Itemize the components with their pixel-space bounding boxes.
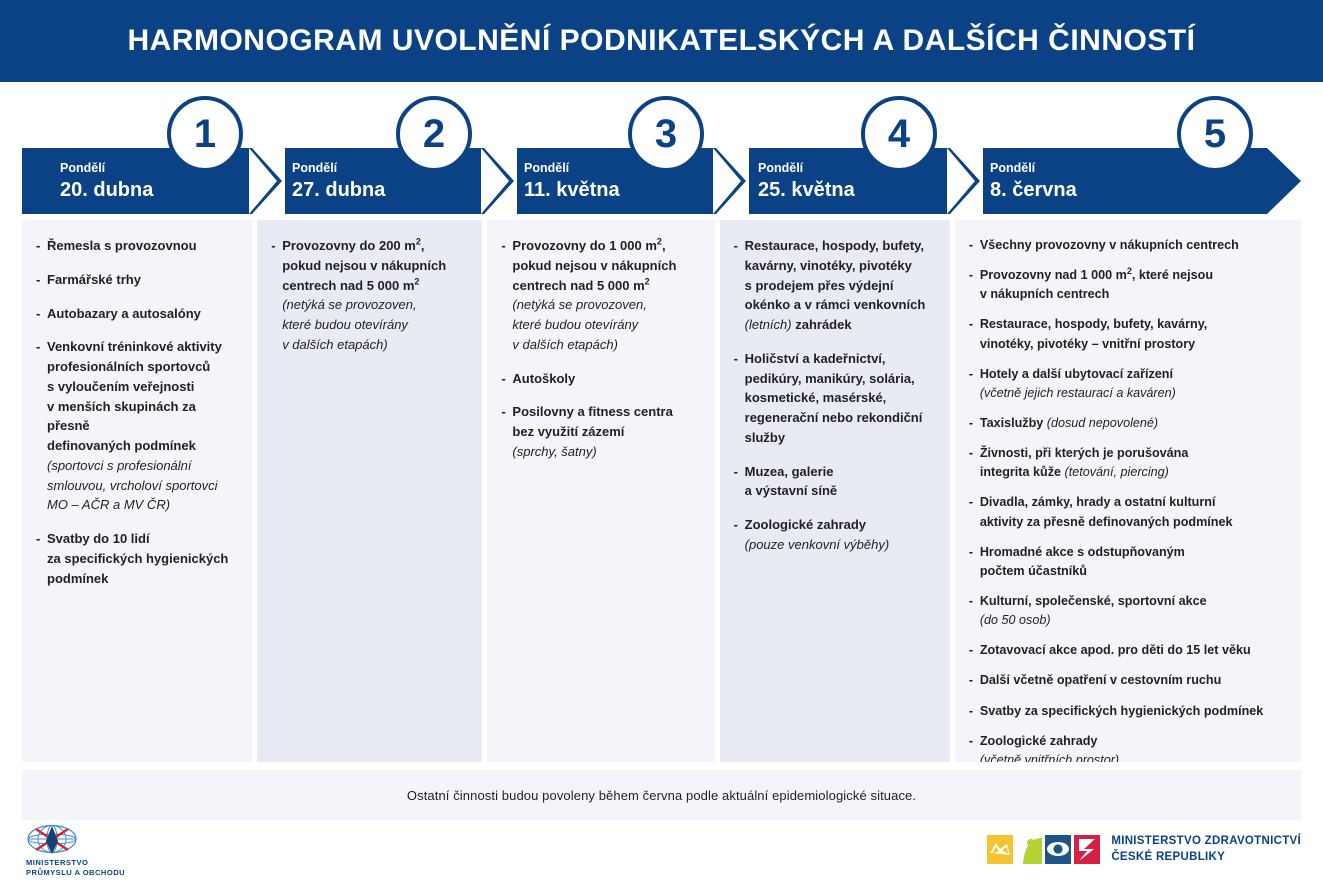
phase-columns: Řemesla s provozovnouFarmářské trhyAutob… — [22, 220, 1301, 762]
footnote-bar: Ostatní činnosti budou povoleny během če… — [22, 770, 1301, 820]
list-item: Svatby do 10 lidíza specifických hygieni… — [36, 529, 240, 588]
title-banner: HARMONOGRAM UVOLNĚNÍ PODNIKATELSKÝCH A D… — [0, 0, 1323, 82]
list-item: Hotely a další ubytovací zařízení(včetně… — [969, 365, 1289, 403]
step-date-label: 25. května — [758, 179, 948, 202]
globe-icon — [26, 824, 78, 856]
step-number: 3 — [655, 114, 677, 154]
list-item: Zoologické zahrady(pouze venkovní výběhy… — [734, 515, 938, 555]
logo-ministry-of-industry-and-trade: MINISTERSTVO PRŮMYSLU A OBCHODU — [26, 824, 125, 878]
step-circle-5[interactable]: 5 — [1177, 96, 1253, 172]
list-item: Živnosti, při kterých je porušovánainteg… — [969, 444, 1289, 482]
step-circle-4[interactable]: 4 — [861, 96, 937, 172]
footnote-text: Ostatní činnosti budou povoleny během če… — [407, 788, 916, 803]
chevron-separator-4 — [947, 148, 983, 214]
list-item: Hromadné akce s odstupňovanýmpočtem účas… — [969, 543, 1289, 581]
list-item: Restaurace, hospody, bufety,kavárny, vin… — [734, 236, 938, 335]
page-title: HARMONOGRAM UVOLNĚNÍ PODNIKATELSKÝCH A D… — [127, 24, 1195, 58]
phase-column-1: Řemesla s provozovnouFarmářské trhyAutob… — [22, 220, 252, 762]
chevron-separator-3 — [713, 148, 749, 214]
step-number: 5 — [1204, 114, 1226, 154]
red-tile-icon — [1074, 835, 1100, 864]
step-date-label: 27. dubna — [292, 179, 482, 202]
step-circle-3[interactable]: 3 — [628, 96, 704, 172]
phase-column-3: Provozovny do 1 000 m2,pokud nejsou v ná… — [487, 220, 714, 762]
list-item: Řemesla s provozovnou — [36, 236, 240, 256]
step-circle-2[interactable]: 2 — [396, 96, 472, 172]
list-item: Restaurace, hospody, bufety, kavárny,vin… — [969, 315, 1289, 353]
list-item: Kulturní, společenské, sportovní akce(do… — [969, 592, 1289, 630]
blue-eye-tile-icon — [1045, 835, 1071, 864]
step-date-label: 11. května — [524, 179, 714, 202]
chevron-separator-2 — [481, 148, 517, 214]
mz-logo-tiles — [987, 835, 1100, 864]
mz-line-1: MINISTERSTVO ZDRAVOTNICTVÍ — [1111, 834, 1301, 850]
step-circle-1[interactable]: 1 — [167, 96, 243, 172]
chevron-separator-1 — [249, 148, 285, 214]
logo-ministry-of-health: MINISTERSTVO ZDRAVOTNICTVÍ ČESKÉ REPUBLI… — [987, 834, 1301, 866]
phase-column-5: Všechny provozovny v nákupních centrechP… — [955, 220, 1301, 762]
list-item: Provozovny do 1 000 m2,pokud nejsou v ná… — [501, 236, 702, 355]
list-item: Provozovny nad 1 000 m2, které nejsouv n… — [969, 266, 1289, 304]
mpo-logo-text: MINISTERSTVO PRŮMYSLU A OBCHODU — [26, 858, 125, 878]
infographic-page: HARMONOGRAM UVOLNĚNÍ PODNIKATELSKÝCH A D… — [0, 0, 1323, 888]
list-item: Taxislužby (dosud nepovolené) — [969, 414, 1289, 433]
list-item: Farmářské trhy — [36, 270, 240, 290]
list-item: Holičství a kadeřnictví,pedikúry, manikú… — [734, 349, 938, 448]
list-item: Zoologické zahrady(včetně vnitřních pros… — [969, 732, 1289, 762]
phase-column-2: Provozovny do 200 m2,pokud nejsou v náku… — [257, 220, 482, 762]
yellow-tile-icon — [987, 835, 1013, 864]
list-item: Zotavovací akce apod. pro děti do 15 let… — [969, 641, 1289, 660]
mpo-line-2: PRŮMYSLU A OBCHODU — [26, 868, 125, 878]
step-number: 1 — [194, 114, 216, 154]
green-tile-icon — [1016, 835, 1042, 864]
list-item: Divadla, zámky, hrady a ostatní kulturní… — [969, 493, 1289, 531]
list-item: Muzea, galeriea výstavní síně — [734, 462, 938, 502]
phase-column-4: Restaurace, hospody, bufety,kavárny, vin… — [720, 220, 950, 762]
list-item: Všechny provozovny v nákupních centrech — [969, 236, 1289, 255]
list-item: Autoškoly — [501, 369, 702, 389]
mz-line-2: ČESKÉ REPUBLIKY — [1111, 850, 1301, 866]
list-item: Svatby za specifických hygienických podm… — [969, 702, 1289, 721]
mz-logo-text: MINISTERSTVO ZDRAVOTNICTVÍ ČESKÉ REPUBLI… — [1111, 834, 1301, 866]
list-item: Další včetně opatření v cestovním ruchu — [969, 671, 1289, 690]
step-date-label: 8. června — [990, 179, 1260, 202]
step-date-label: 20. dubna — [60, 179, 250, 202]
list-item: Posilovny a fitness centrabez využití zá… — [501, 402, 702, 461]
list-item: Venkovní tréninkové aktivityprofesionáln… — [36, 337, 240, 515]
mpo-line-1: MINISTERSTVO — [26, 858, 125, 868]
list-item: Provozovny do 200 m2,pokud nejsou v náku… — [271, 236, 470, 355]
list-item: Autobazary a autosalóny — [36, 304, 240, 324]
step-number: 4 — [888, 114, 910, 154]
step-number: 2 — [423, 114, 445, 154]
